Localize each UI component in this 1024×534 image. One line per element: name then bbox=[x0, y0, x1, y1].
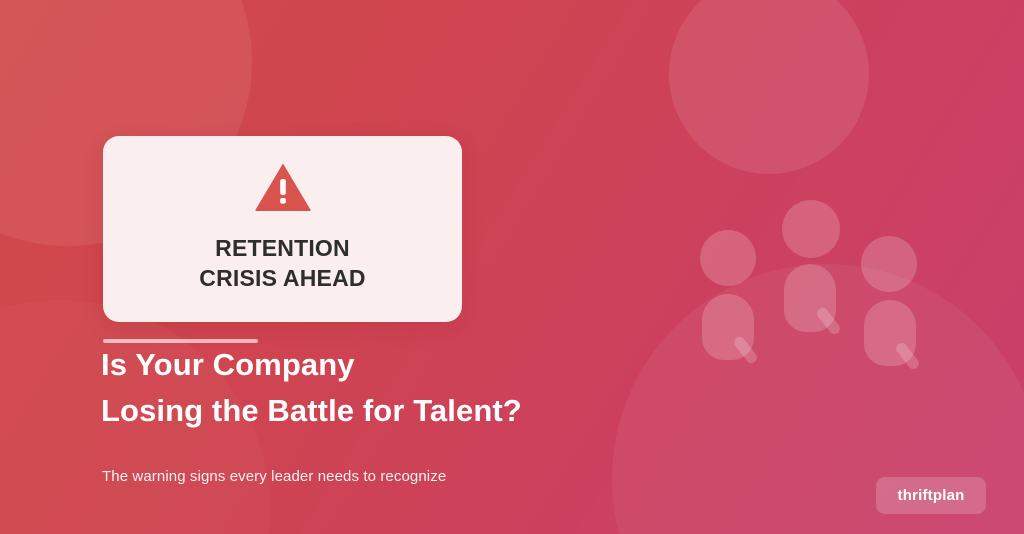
headline-line-1: Is Your Company bbox=[101, 342, 701, 388]
headline-line-2: Losing the Battle for Talent? bbox=[101, 388, 701, 434]
retention-alert-card: RETENTION CRISIS AHEAD bbox=[103, 136, 462, 322]
brand-logo-badge[interactable]: thriftplan bbox=[876, 477, 986, 514]
alert-message: RETENTION CRISIS AHEAD bbox=[199, 234, 365, 294]
warning-triangle-icon bbox=[254, 162, 312, 212]
promo-banner: RETENTION CRISIS AHEAD Is Your Company L… bbox=[0, 0, 1024, 534]
page-title: Is Your Company Losing the Battle for Ta… bbox=[101, 342, 701, 434]
banner-content: RETENTION CRISIS AHEAD Is Your Company L… bbox=[0, 0, 1024, 534]
subtitle: The warning signs every leader needs to … bbox=[102, 468, 446, 485]
brand-logo-text: thriftplan bbox=[898, 487, 965, 504]
alert-line-1: RETENTION bbox=[199, 234, 365, 264]
alert-line-2: CRISIS AHEAD bbox=[199, 264, 365, 294]
